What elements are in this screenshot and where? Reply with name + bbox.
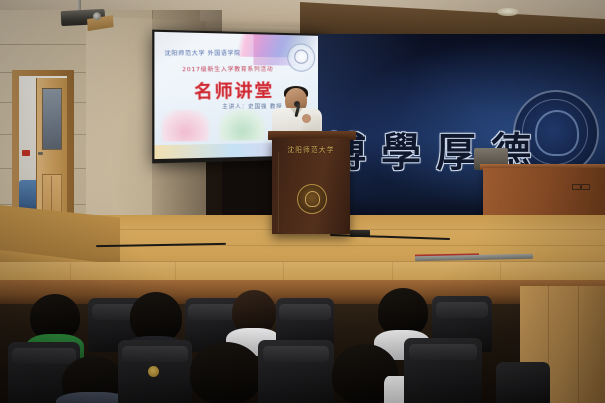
door-handle-icon[interactable] xyxy=(38,152,43,155)
slide-thumbnail-2 xyxy=(219,109,265,141)
slide-thumbnail-1 xyxy=(161,110,209,142)
slide-line-2: 2017级新生入学教育系列活动 xyxy=(182,65,273,74)
speaker-hand xyxy=(302,114,311,123)
ceiling-projector-icon xyxy=(61,9,106,26)
podium-name-plate: 沈阳师范大学 xyxy=(282,144,340,154)
seat-headrest xyxy=(436,302,489,318)
seat-headrest xyxy=(12,348,75,364)
university-emblem-icon xyxy=(297,184,327,214)
door-window-pane xyxy=(42,88,62,150)
slide-line-1: 沈阳师范大学 外国语学院 xyxy=(164,49,240,58)
audience-head xyxy=(378,288,428,336)
speaker-glasses-icon xyxy=(572,184,590,188)
motto-char-2: 學 xyxy=(381,120,421,178)
wall-marker-icon xyxy=(22,150,30,156)
seat-headrest xyxy=(122,346,187,362)
ceiling-light-icon xyxy=(497,8,519,16)
podium: 沈阳师范大学 xyxy=(272,138,350,234)
seat-headrest xyxy=(409,344,478,360)
audience-area xyxy=(0,280,605,403)
podium-edge-highlight xyxy=(278,152,279,232)
seat-number-badge xyxy=(148,366,159,377)
seat[interactable] xyxy=(258,340,334,403)
seat-headrest xyxy=(279,304,330,320)
audience-head xyxy=(190,342,262,403)
seat[interactable] xyxy=(118,340,192,403)
seat[interactable] xyxy=(496,362,550,403)
university-logo-icon xyxy=(287,43,315,72)
motto-char-3: 厚 xyxy=(436,120,476,178)
seat[interactable] xyxy=(404,338,482,403)
seat-headrest xyxy=(263,346,330,362)
audience-head xyxy=(130,292,182,342)
lecture-hall-photo: 沈阳师范大学 外国语学院 2017级新生入学教育系列活动 名师讲堂 主讲人：史国… xyxy=(0,0,605,403)
slide-title: 名师讲堂 xyxy=(194,76,274,103)
